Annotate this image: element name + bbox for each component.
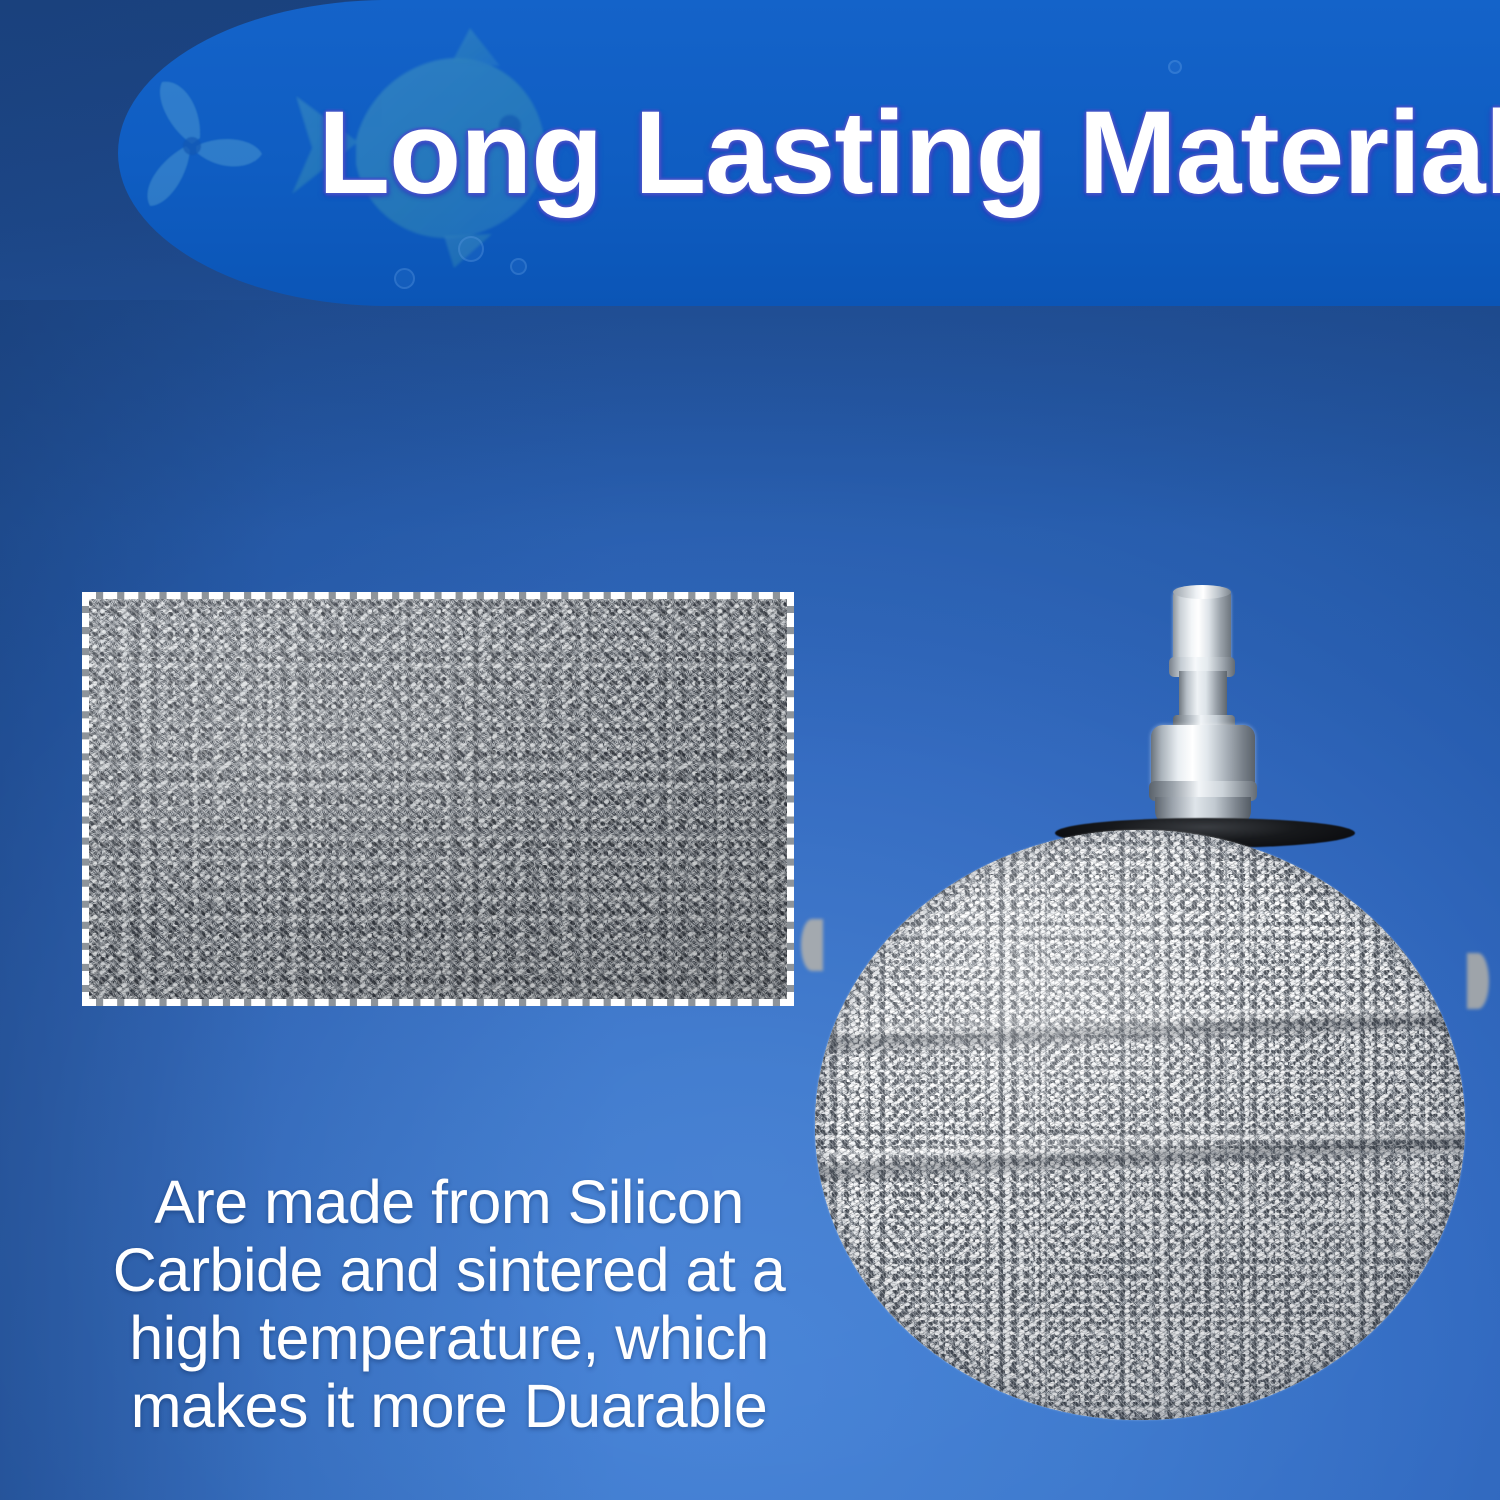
stone-nub-left xyxy=(801,919,823,971)
material-texture-swatch xyxy=(82,592,794,1006)
air-stone-sphere xyxy=(815,830,1465,1420)
stone-nub-right xyxy=(1467,953,1489,1009)
description-line-4: makes it more Duarable xyxy=(44,1372,854,1440)
texture-shading xyxy=(89,599,787,999)
stone-edge-shadow xyxy=(815,830,1465,1420)
description-line-3: high temperature, which xyxy=(44,1304,854,1372)
propeller-icon xyxy=(126,72,266,222)
description-text: Are made from Silicon Carbide and sinter… xyxy=(44,1168,854,1440)
product-infographic: Long Lasting Material Are made from Sili… xyxy=(0,0,1500,1500)
product-image-air-stone xyxy=(805,575,1485,1435)
description-line-1: Are made from Silicon xyxy=(44,1168,854,1236)
page-title: Long Lasting Material xyxy=(318,0,1500,306)
nozzle-barb-top xyxy=(1173,585,1231,599)
header-banner: Long Lasting Material xyxy=(118,0,1500,306)
description-line-2: Carbide and sintered at a xyxy=(44,1236,854,1304)
barbed-hose-nozzle xyxy=(1135,575,1265,840)
